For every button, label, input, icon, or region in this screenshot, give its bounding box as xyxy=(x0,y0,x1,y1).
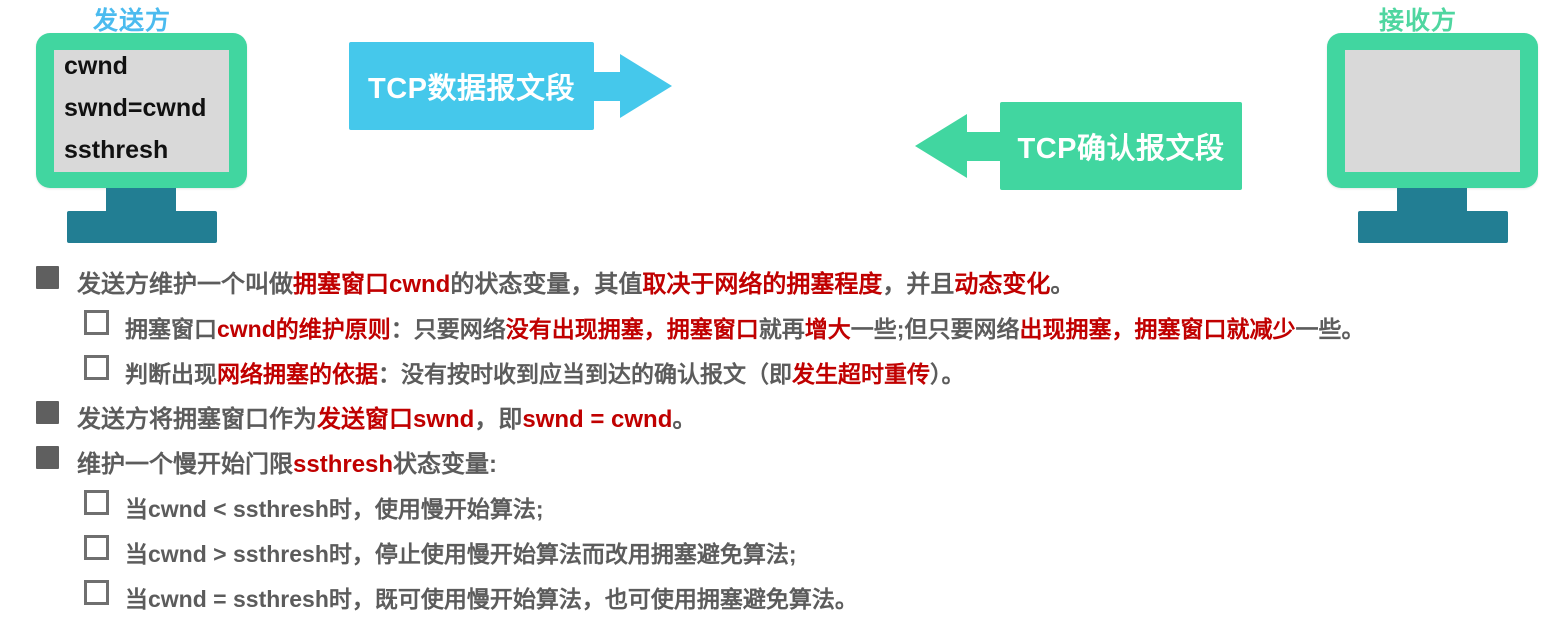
bullet-text: 维护一个慢开始门限ssthresh状态变量: xyxy=(77,442,497,487)
tcp-ack-segment-arrow: TCP确认报文段 xyxy=(915,102,1242,190)
bullet-text-segment: 。 xyxy=(672,406,696,433)
bullet-text: 当cwnd = ssthresh时，既可使用慢开始算法，也可使用拥塞避免算法。 xyxy=(125,577,858,622)
bullet-text-segment: 出现拥塞，拥塞窗口就减少 xyxy=(1019,316,1295,342)
tcp-data-segment-arrowhead xyxy=(620,54,672,118)
filled-square-bullet-icon xyxy=(36,446,59,469)
bullet-text-segment: ，并且 xyxy=(882,271,954,298)
hollow-square-bullet-icon xyxy=(84,490,109,515)
sender-label: 发送方 xyxy=(93,1,171,37)
tcp-ack-segment-arrowhead xyxy=(915,114,967,178)
bullet-text-segment: cwnd的维护原则 xyxy=(217,316,391,342)
bullet-line: 当cwnd < ssthresh时，使用慢开始算法; xyxy=(0,487,1549,532)
sender-monitor: cwnd swnd=cwnd ssthresh xyxy=(36,33,251,248)
sender-screen-line-1: cwnd xyxy=(64,50,128,87)
bullet-line: 判断出现网络拥塞的依据：没有按时收到应当到达的确认报文（即发生超时重传）。 xyxy=(0,352,1549,397)
bullet-text: 判断出现网络拥塞的依据：没有按时收到应当到达的确认报文（即发生超时重传）。 xyxy=(125,352,965,397)
bullet-text-segment: 当cwnd = ssthresh时，既可使用慢开始算法，也可使用拥塞避免算法。 xyxy=(125,586,858,612)
receiver-monitor-screen xyxy=(1345,50,1520,172)
sender-screen-line-2: swnd=cwnd xyxy=(64,87,206,129)
bullet-line: 发送方维护一个叫做拥塞窗口cwnd的状态变量，其值取决于网络的拥塞程度，并且动态… xyxy=(0,262,1549,307)
receiver-label: 接收方 xyxy=(1379,1,1457,37)
bullet-text-segment: 。 xyxy=(1050,271,1074,298)
bullet-text-segment: 状态变量: xyxy=(393,451,497,478)
bullet-text-segment: 拥塞窗口cwnd xyxy=(293,271,450,298)
tcp-data-segment-arrow: TCP数据报文段 xyxy=(349,42,672,130)
bullet-text-segment: 的状态变量，其值 xyxy=(450,271,642,298)
receiver-monitor xyxy=(1327,33,1542,248)
tcp-data-segment-label-box: TCP数据报文段 xyxy=(349,42,594,130)
bullet-text-segment: 取决于网络的拥塞程度 xyxy=(642,271,882,298)
bullet-line: 当cwnd > ssthresh时，停止使用慢开始算法而改用拥塞避免算法; xyxy=(0,532,1549,577)
bullet-text-segment: 增大 xyxy=(805,316,851,342)
hollow-square-bullet-icon xyxy=(84,310,109,335)
bullet-text-segment: 发送方维护一个叫做 xyxy=(77,271,293,298)
network-diagram: 发送方 cwnd swnd=cwnd ssthresh TCP数据报文段 TCP… xyxy=(0,0,1549,258)
bullet-text-segment: 动态变化 xyxy=(954,271,1050,298)
bullet-text: 拥塞窗口cwnd的维护原则：只要网络没有出现拥塞，拥塞窗口就再增大一些;但只要网… xyxy=(125,307,1364,352)
bullet-text: 发送方维护一个叫做拥塞窗口cwnd的状态变量，其值取决于网络的拥塞程度，并且动态… xyxy=(77,262,1074,307)
hollow-square-bullet-icon xyxy=(84,535,109,560)
bullet-line: 当cwnd = ssthresh时，既可使用慢开始算法，也可使用拥塞避免算法。 xyxy=(0,577,1549,622)
bullet-text-segment: 就再 xyxy=(759,316,805,342)
bullet-text-segment: 一些;但只要网络 xyxy=(851,316,1020,342)
receiver-monitor-base xyxy=(1358,211,1508,243)
bullet-line: 发送方将拥塞窗口作为发送窗口swnd，即swnd = cwnd。 xyxy=(0,397,1549,442)
bullet-line: 拥塞窗口cwnd的维护原则：只要网络没有出现拥塞，拥塞窗口就再增大一些;但只要网… xyxy=(0,307,1549,352)
bullet-text-segment: swnd = cwnd xyxy=(522,406,672,433)
bullet-text: 当cwnd > ssthresh时，停止使用慢开始算法而改用拥塞避免算法; xyxy=(125,532,797,577)
sender-monitor-screen: cwnd swnd=cwnd ssthresh xyxy=(54,50,229,172)
bullet-text-segment: 当cwnd > ssthresh时，停止使用慢开始算法而改用拥塞避免算法; xyxy=(125,541,797,567)
hollow-square-bullet-icon xyxy=(84,355,109,380)
bullet-text-segment: 一些。 xyxy=(1295,316,1364,342)
bullet-text-segment: ）。 xyxy=(930,361,965,387)
bullet-text-segment: 发送方将拥塞窗口作为 xyxy=(77,406,317,433)
bullet-text-segment: ssthresh xyxy=(293,451,393,478)
bullet-text-segment: 网络拥塞的依据 xyxy=(217,361,378,387)
bullet-text-segment: ：只要网络 xyxy=(391,316,506,342)
bullet-text: 发送方将拥塞窗口作为发送窗口swnd，即swnd = cwnd。 xyxy=(77,397,696,442)
bullet-text-segment: ：没有按时收到应当到达的确认报文（即 xyxy=(378,361,792,387)
bullet-text-segment: 发生超时重传 xyxy=(792,361,930,387)
filled-square-bullet-icon xyxy=(36,266,59,289)
filled-square-bullet-icon xyxy=(36,401,59,424)
sender-screen-line-3: ssthresh xyxy=(64,129,168,171)
sender-monitor-base xyxy=(67,211,217,243)
tcp-data-segment-label: TCP数据报文段 xyxy=(368,65,575,107)
bullet-line: 维护一个慢开始门限ssthresh状态变量: xyxy=(0,442,1549,487)
bullet-text-segment: 维护一个慢开始门限 xyxy=(77,451,293,478)
bullet-list: 发送方维护一个叫做拥塞窗口cwnd的状态变量，其值取决于网络的拥塞程度，并且动态… xyxy=(0,262,1549,622)
bullet-text-segment: 判断出现 xyxy=(125,361,217,387)
hollow-square-bullet-icon xyxy=(84,580,109,605)
bullet-text-segment: 当cwnd < ssthresh时，使用慢开始算法; xyxy=(125,496,544,522)
bullet-text-segment: 拥塞窗口 xyxy=(125,316,217,342)
bullet-text-segment: 发送窗口swnd xyxy=(317,406,474,433)
tcp-ack-segment-label-box: TCP确认报文段 xyxy=(1000,102,1242,190)
tcp-ack-segment-label: TCP确认报文段 xyxy=(1017,125,1224,167)
bullet-text-segment: ，即 xyxy=(474,406,522,433)
bullet-text: 当cwnd < ssthresh时，使用慢开始算法; xyxy=(125,487,544,532)
bullet-text-segment: 没有出现拥塞，拥塞窗口 xyxy=(506,316,759,342)
